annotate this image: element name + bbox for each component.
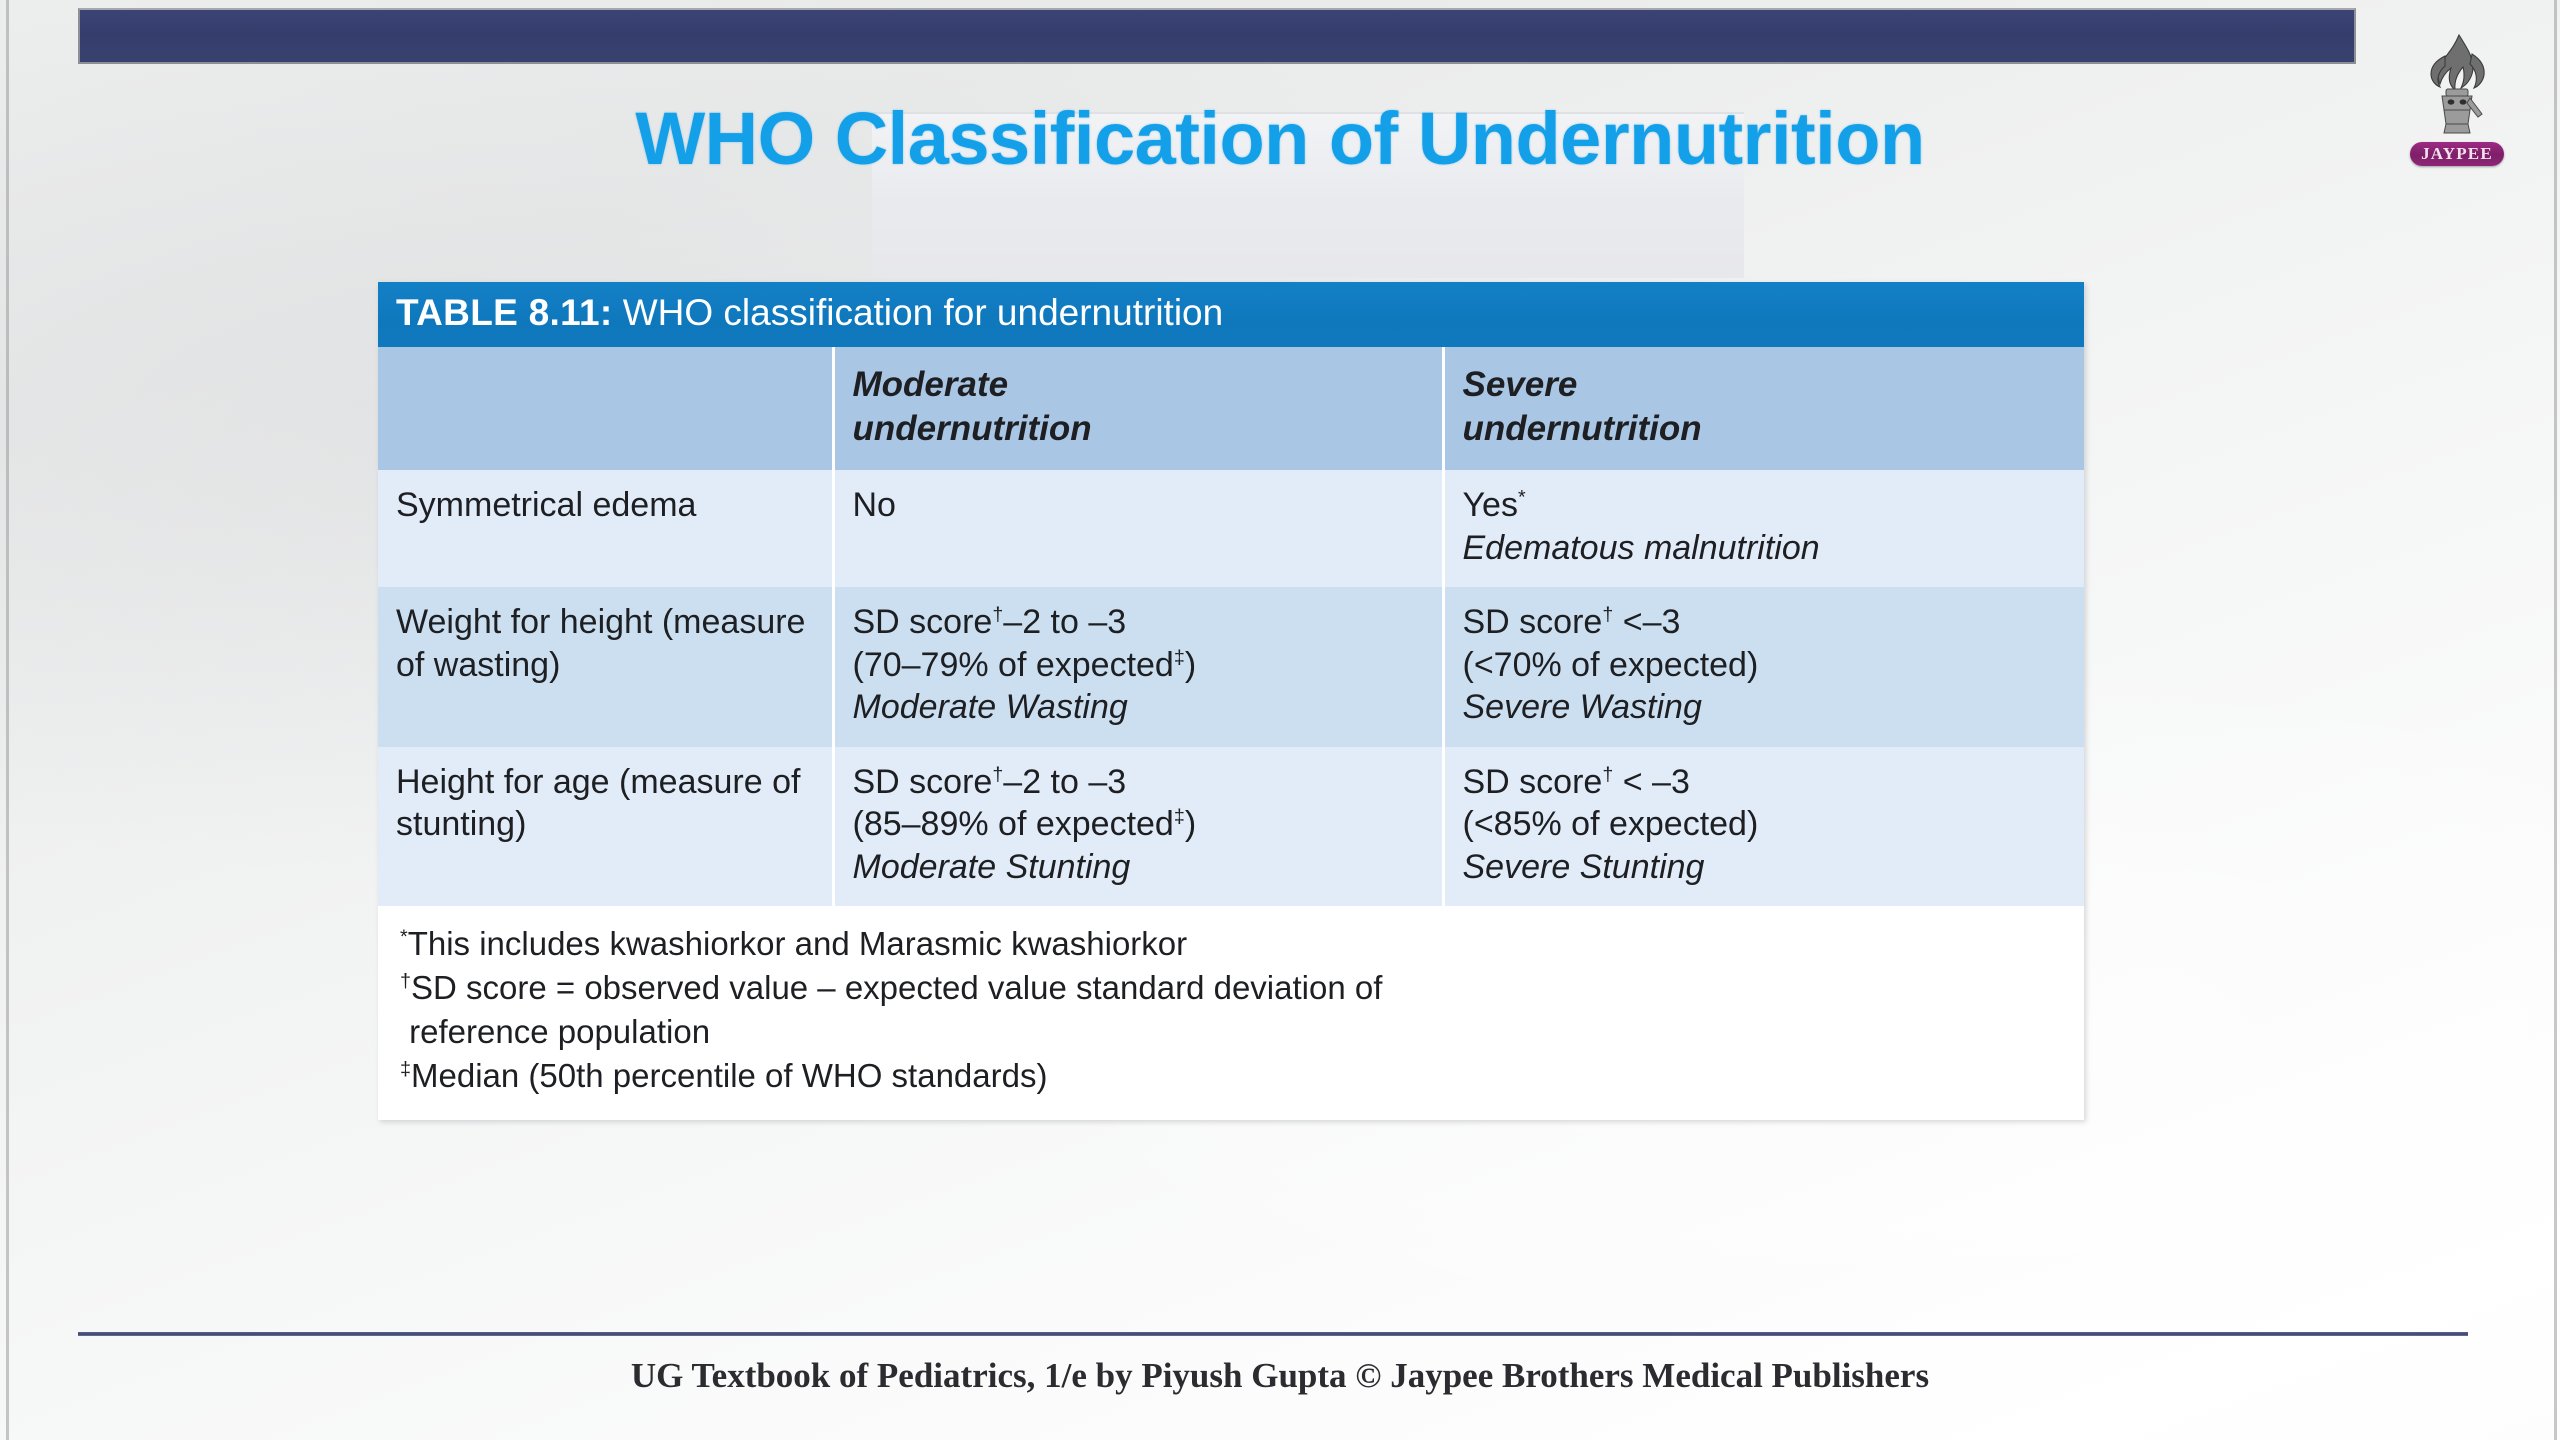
table-row: Height for age (measure of stunting) SD … (378, 747, 2084, 907)
page-title: WHO Classification of Undernutrition (0, 96, 2560, 181)
moderate-stunting-pct-b: ) (1185, 805, 1196, 843)
moderate-wasting-sd-b: –2 to –3 (1003, 603, 1126, 641)
slide-canvas: JAYPEE WHO Classification of Undernutrit… (0, 0, 2560, 1440)
moderate-stunting-sd-a: SD score (853, 763, 993, 801)
table-caption: TABLE 8.11: WHO classification for under… (378, 282, 2084, 347)
cell-severe-edema: Yes* Edematous malnutrition (1443, 470, 2084, 587)
footer-divider (78, 1332, 2468, 1336)
table-caption-title: WHO classification for undernutrition (612, 292, 1223, 333)
header-cell-severe: Severe undernutrition (1443, 347, 2084, 471)
severe-stunting-pct: (<85% of expected) (1463, 805, 1759, 843)
header-cell-criterion (378, 347, 833, 471)
moderate-wasting-pct-b: ) (1185, 646, 1196, 684)
severe-stunting-sd-marker: † (1602, 764, 1613, 786)
cell-severe-stunting: SD score† < –3 (<85% of expected) Severe… (1443, 747, 2084, 907)
moderate-wasting-sd-a: SD score (853, 603, 993, 641)
footnote-asterisk: *This includes kwashiorkor and Marasmic … (400, 922, 2064, 966)
table-row: Symmetrical edema No Yes* Edematous maln… (378, 470, 2084, 587)
moderate-wasting-sd-marker: † (992, 604, 1003, 626)
header-moderate-line1: Moderate (853, 365, 1009, 404)
cell-criterion-edema: Symmetrical edema (378, 470, 833, 587)
severe-wasting-pct: (<70% of expected) (1463, 646, 1759, 684)
footnote-dagger: †SD score = observed value – expected va… (400, 966, 2064, 1054)
table-header-row: Moderate undernutrition Severe undernutr… (378, 347, 2084, 471)
severe-edema-label: Edematous malnutrition (1463, 529, 1820, 567)
footer-attribution: UG Textbook of Pediatrics, 1/e by Piyush… (0, 1356, 2560, 1396)
cell-criterion-weight-for-height: Weight for height (measure of wasting) (378, 587, 833, 747)
slide-right-edge-line (2554, 0, 2557, 1440)
severe-stunting-sd-a: SD score (1463, 763, 1603, 801)
moderate-wasting-label: Moderate Wasting (853, 688, 1128, 726)
cell-moderate-wasting: SD score†–2 to –3 (70–79% of expected‡) … (833, 587, 1443, 747)
footnote-marker-double-dagger: ‡ (400, 1058, 411, 1080)
slide-left-edge-line (6, 0, 9, 1440)
cell-criterion-height-for-age: Height for age (measure of stunting) (378, 747, 833, 907)
severe-stunting-sd-b: < –3 (1613, 763, 1690, 801)
severe-wasting-sd-marker: † (1602, 604, 1613, 626)
footnote-double-dagger: ‡Median (50th percentile of WHO standard… (400, 1054, 2064, 1098)
moderate-wasting-pct-a: (70–79% of expected (853, 646, 1174, 684)
cell-moderate-edema: No (833, 470, 1443, 587)
severe-stunting-label: Severe Stunting (1463, 848, 1705, 886)
footnote-text-double-dagger: Median (50th percentile of WHO standards… (411, 1057, 1047, 1094)
header-cell-moderate: Moderate undernutrition (833, 347, 1443, 471)
footnote-marker-asterisk: * (400, 926, 408, 948)
moderate-wasting-pct-marker: ‡ (1174, 647, 1185, 669)
header-moderate-line2: undernutrition (853, 409, 1092, 448)
table-footnotes: *This includes kwashiorkor and Marasmic … (378, 906, 2084, 1120)
cell-moderate-stunting: SD score†–2 to –3 (85–89% of expected‡) … (833, 747, 1443, 907)
severe-wasting-sd-a: SD score (1463, 603, 1603, 641)
footnote-marker-dagger: † (400, 970, 411, 992)
footnote-text-asterisk: This includes kwashiorkor and Marasmic k… (408, 925, 1187, 962)
header-severe-line2: undernutrition (1463, 409, 1702, 448)
header-severe-line1: Severe (1463, 365, 1578, 404)
who-classification-table: TABLE 8.11: WHO classification for under… (378, 282, 2084, 1120)
moderate-stunting-label: Moderate Stunting (853, 848, 1131, 886)
footnote-text-dagger: SD score = observed value – expected val… (400, 969, 1382, 1050)
moderate-stunting-sd-marker: † (992, 764, 1003, 786)
severe-wasting-label: Severe Wasting (1463, 688, 1702, 726)
top-banner-bar (78, 8, 2356, 64)
severe-edema-value: Yes (1463, 486, 1518, 524)
table-row: Weight for height (measure of wasting) S… (378, 587, 2084, 747)
table-body: Moderate undernutrition Severe undernutr… (378, 347, 2084, 907)
moderate-stunting-pct-marker: ‡ (1174, 806, 1185, 828)
table-caption-number: TABLE 8.11: (396, 292, 612, 333)
moderate-stunting-sd-b: –2 to –3 (1003, 763, 1126, 801)
severe-edema-footnote-marker: * (1518, 487, 1526, 509)
moderate-stunting-pct-a: (85–89% of expected (853, 805, 1174, 843)
cell-severe-wasting: SD score† <–3 (<70% of expected) Severe … (1443, 587, 2084, 747)
severe-wasting-sd-b: <–3 (1613, 603, 1680, 641)
